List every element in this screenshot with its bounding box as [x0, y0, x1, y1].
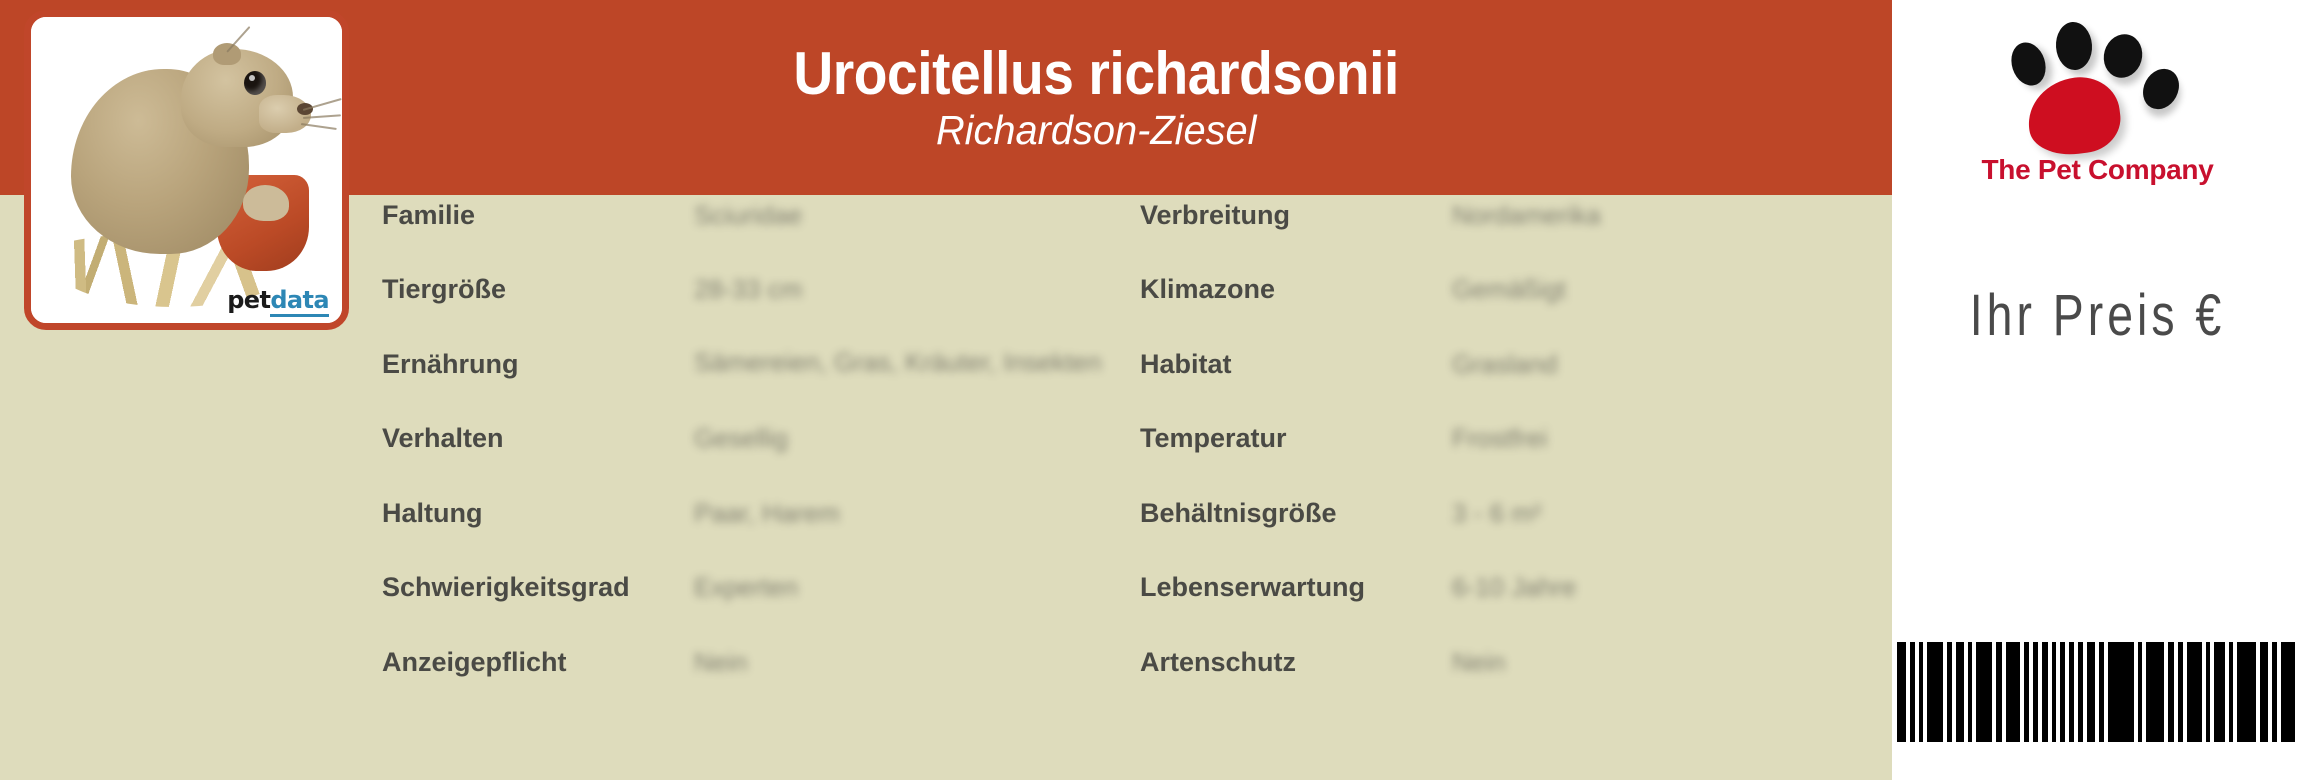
barcode-bar [2146, 642, 2164, 742]
attribute-label: Habitat [1140, 344, 1232, 384]
barcode-bar [2033, 642, 2038, 742]
barcode-bar [1947, 642, 1952, 742]
attribute-label: Anzeigepflicht [382, 642, 567, 682]
barcode-bar [2168, 642, 2174, 742]
attribute-value: 3 - 6 m² [1452, 493, 1882, 533]
attribute-value: Nein [1452, 642, 1882, 682]
species-card: Urocitellus richardsonii Richardson-Zies… [0, 0, 1892, 780]
barcode-bar [2087, 642, 2095, 742]
attribute-label: Ernährung [382, 344, 519, 384]
barcode-bar [2214, 642, 2225, 742]
paw-print-icon [2000, 14, 2200, 154]
title-block: Urocitellus richardsonii Richardson-Zies… [300, 0, 1892, 195]
attribute-grid: FamilieSciuridaeTiergröße28-33 cmErnähru… [0, 195, 1892, 780]
barcode-bar [2108, 642, 2134, 742]
barcode-bar [1968, 642, 1972, 742]
price-panel: The Pet Company Ihr Preis € [1892, 0, 2303, 780]
attribute-label: Schwierigkeitsgrad [382, 567, 630, 607]
attribute-row: Tiergröße28-33 cm [382, 269, 1142, 309]
barcode-bar [2206, 642, 2210, 742]
attribute-row: HabitatGrasland [1140, 344, 1892, 384]
barcode-bar [2138, 642, 2142, 742]
attribute-label: Familie [382, 195, 475, 235]
whisker-icon [301, 123, 337, 130]
price-label: Ihr Preis € [1933, 282, 2262, 349]
attribute-row: VerhaltenGesellig [382, 418, 1142, 458]
attribute-value: Sämereien, Gras, Kräuter, Insekten [694, 344, 1124, 381]
common-name: Richardson-Ziesel [936, 109, 1256, 152]
barcode-bar [1919, 642, 1923, 742]
barcode-bar [2260, 642, 2268, 742]
barcode-bar [2099, 642, 2104, 742]
barcode-bar [1996, 642, 2002, 742]
attribute-row: HaltungPaar, Harem [382, 493, 1142, 533]
attribute-row: SchwierigkeitsgradExperten [382, 567, 1142, 607]
company-logo: The Pet Company [1892, 10, 2303, 210]
barcode-bar [2187, 642, 2202, 742]
attribute-value: Gesellig [694, 418, 1124, 458]
attribute-value: Gemäßigt [1452, 269, 1882, 309]
squirrel-ear-icon [213, 43, 241, 65]
attribute-row: Behältnisgröße3 - 6 m² [1140, 493, 1892, 533]
attribute-value: Experten [694, 567, 1124, 607]
attribute-row: FamilieSciuridae [382, 195, 1142, 235]
attribute-value: Sciuridae [694, 195, 1124, 235]
barcode-bar [2078, 642, 2083, 742]
paw-toe-icon [2054, 21, 2093, 71]
attribute-value: Grasland [1452, 344, 1882, 384]
attribute-row: TemperaturFrostfrei [1140, 418, 1892, 458]
attribute-value: Paar, Harem [694, 493, 1124, 533]
attribute-label: Klimazone [1140, 269, 1275, 309]
barcode-bar [2281, 642, 2295, 742]
company-name: The Pet Company [1892, 154, 2303, 186]
scientific-name: Urocitellus richardsonii [793, 42, 1399, 105]
paw-toe-icon [2099, 30, 2148, 83]
barcode-bar [2069, 642, 2074, 742]
paw-pad-icon [2024, 73, 2125, 160]
barcode-bar [2060, 642, 2065, 742]
barcode-bar [2229, 642, 2233, 742]
attribute-value: Nordamerika [1452, 195, 1882, 235]
barcode-bar [1910, 642, 1915, 742]
attribute-label: Lebenserwartung [1140, 567, 1365, 607]
barcode-bar [1897, 642, 1906, 742]
attribute-row: AnzeigepflichtNein [382, 642, 1142, 682]
attribute-label: Behältnisgröße [1140, 493, 1337, 533]
attribute-value: 6-10 Jahre [1452, 567, 1882, 607]
attribute-value: Frostfrei [1452, 418, 1882, 458]
barcode-bar [1976, 642, 1992, 742]
barcode [1892, 642, 2303, 742]
barcode-bar [2272, 642, 2277, 742]
attribute-value: Nein [694, 642, 1124, 682]
attribute-row: VerbreitungNordamerika [1140, 195, 1892, 235]
paw-toe-icon [2006, 38, 2051, 90]
barcode-bar [2006, 642, 2020, 742]
attribute-label: Artenschutz [1140, 642, 1296, 682]
barcode-bar [2024, 642, 2029, 742]
attribute-row: Lebenserwartung6-10 Jahre [1140, 567, 1892, 607]
barcode-bar [2237, 642, 2256, 742]
attribute-row: ArtenschutzNein [1140, 642, 1892, 682]
attribute-value: 28-33 cm [694, 269, 1124, 309]
attribute-label: Tiergröße [382, 269, 506, 309]
squirrel-eye-icon [244, 71, 266, 95]
barcode-bar [1956, 642, 1964, 742]
barcode-bar [2178, 642, 2183, 742]
pet-info-sheet: Urocitellus richardsonii Richardson-Zies… [0, 0, 2303, 780]
paw-toe-icon [2136, 62, 2186, 115]
attribute-row: KlimazoneGemäßigt [1140, 269, 1892, 309]
attribute-label: Temperatur [1140, 418, 1287, 458]
barcode-bar [1927, 642, 1943, 742]
attribute-label: Verhalten [382, 418, 504, 458]
barcode-bar [2042, 642, 2048, 742]
attribute-label: Haltung [382, 493, 483, 533]
attribute-row: ErnährungSämereien, Gras, Kräuter, Insek… [382, 344, 1142, 384]
barcode-bar [2052, 642, 2056, 742]
attribute-label: Verbreitung [1140, 195, 1290, 235]
